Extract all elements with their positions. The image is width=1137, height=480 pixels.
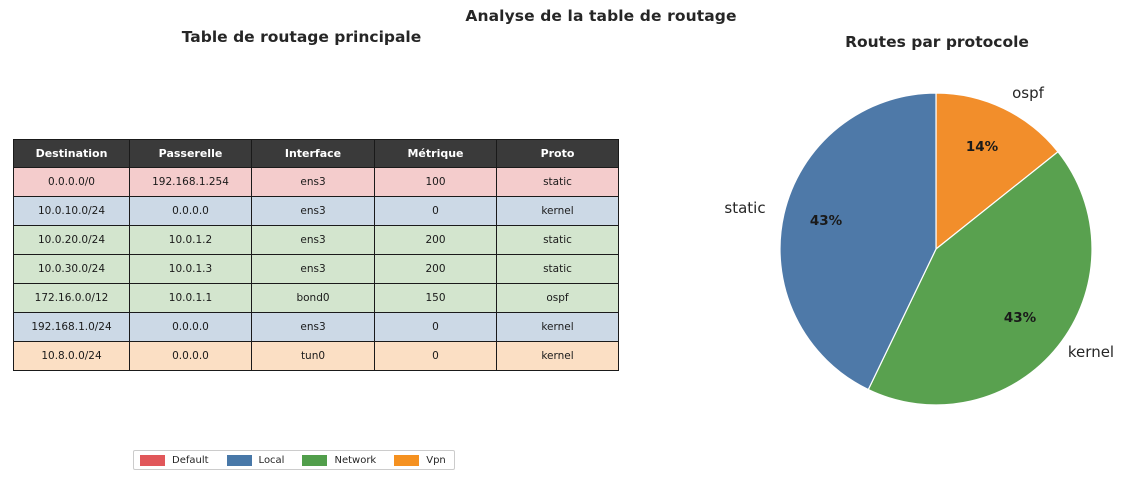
table-cell-passerelle: 10.0.1.1: [130, 284, 252, 313]
table-cell-destination: 192.168.1.0/24: [14, 313, 130, 342]
column-header-metrique: Métrique: [375, 140, 497, 168]
table-cell-metrique: 0: [375, 197, 497, 226]
table-cell-proto: kernel: [497, 342, 619, 371]
table-row: 172.16.0.0/1210.0.1.1bond0150ospf: [14, 284, 619, 313]
pie-percent-label-kernel: 43%: [1004, 310, 1037, 326]
table-cell-proto: kernel: [497, 197, 619, 226]
legend-swatch-icon: [302, 455, 327, 466]
table-cell-destination: 172.16.0.0/12: [14, 284, 130, 313]
table-cell-destination: 10.0.20.0/24: [14, 226, 130, 255]
pie-chart: 14%ospf43%kernel43%static: [700, 60, 1137, 460]
chart-legend: DefaultLocalNetworkVpn: [133, 450, 455, 470]
table-cell-passerelle: 0.0.0.0: [130, 313, 252, 342]
table-cell-passerelle: 10.0.1.3: [130, 255, 252, 284]
routing-table-title: Table de routage principale: [0, 28, 603, 46]
pie-slice-group: [780, 93, 1092, 405]
pie-slice-label-kernel: kernel: [1068, 343, 1114, 361]
table-cell-metrique: 0: [375, 313, 497, 342]
legend-label: Vpn: [426, 455, 446, 466]
legend-label: Local: [259, 455, 285, 466]
legend-swatch-icon: [140, 455, 165, 466]
column-header-passerelle: Passerelle: [130, 140, 252, 168]
legend-label: Default: [172, 455, 209, 466]
pie-percent-label-ospf: 14%: [966, 139, 999, 155]
table-cell-interface: ens3: [252, 226, 375, 255]
table-cell-passerelle: 10.0.1.2: [130, 226, 252, 255]
table-cell-proto: static: [497, 168, 619, 197]
table-row: 0.0.0.0/0192.168.1.254ens3100static: [14, 168, 619, 197]
legend-label: Network: [334, 455, 376, 466]
pie-chart-svg: 14%ospf43%kernel43%static: [700, 60, 1137, 460]
table-cell-interface: ens3: [252, 197, 375, 226]
pie-chart-title: Routes par protocole: [737, 33, 1137, 51]
pie-percent-label-static: 43%: [810, 213, 843, 229]
figure-main-title: Analyse de la table de routage: [0, 7, 1137, 25]
table-cell-metrique: 200: [375, 226, 497, 255]
legend-item[interactable]: Local: [227, 455, 285, 466]
table-cell-interface: ens3: [252, 255, 375, 284]
column-header-proto: Proto: [497, 140, 619, 168]
routing-table-header: Destination Passerelle Interface Métriqu…: [14, 140, 619, 168]
pie-slice-label-static: static: [724, 199, 765, 217]
table-cell-destination: 10.0.10.0/24: [14, 197, 130, 226]
table-cell-interface: bond0: [252, 284, 375, 313]
routing-table-body: 0.0.0.0/0192.168.1.254ens3100static10.0.…: [14, 168, 619, 371]
table-cell-proto: static: [497, 226, 619, 255]
table-row: 10.8.0.0/240.0.0.0tun00kernel: [14, 342, 619, 371]
table-cell-metrique: 100: [375, 168, 497, 197]
legend-item[interactable]: Vpn: [394, 455, 446, 466]
column-header-destination: Destination: [14, 140, 130, 168]
table-cell-interface: ens3: [252, 168, 375, 197]
routing-table: Destination Passerelle Interface Métriqu…: [13, 139, 619, 371]
table-row: 10.0.30.0/2410.0.1.3ens3200static: [14, 255, 619, 284]
legend-item[interactable]: Network: [302, 455, 376, 466]
table-cell-interface: tun0: [252, 342, 375, 371]
table-cell-proto: static: [497, 255, 619, 284]
column-header-interface: Interface: [252, 140, 375, 168]
table-cell-metrique: 150: [375, 284, 497, 313]
pie-slice-label-ospf: ospf: [1012, 84, 1045, 102]
legend-swatch-icon: [394, 455, 419, 466]
legend-item[interactable]: Default: [140, 455, 209, 466]
table-cell-destination: 0.0.0.0/0: [14, 168, 130, 197]
table-row: 192.168.1.0/240.0.0.0ens30kernel: [14, 313, 619, 342]
table-cell-passerelle: 0.0.0.0: [130, 197, 252, 226]
table-cell-metrique: 200: [375, 255, 497, 284]
table-cell-interface: ens3: [252, 313, 375, 342]
table-header-row: Destination Passerelle Interface Métriqu…: [14, 140, 619, 168]
table-cell-destination: 10.0.30.0/24: [14, 255, 130, 284]
table-cell-destination: 10.8.0.0/24: [14, 342, 130, 371]
table-row: 10.0.20.0/2410.0.1.2ens3200static: [14, 226, 619, 255]
table-cell-proto: kernel: [497, 313, 619, 342]
table-cell-proto: ospf: [497, 284, 619, 313]
table-row: 10.0.10.0/240.0.0.0ens30kernel: [14, 197, 619, 226]
table-cell-passerelle: 0.0.0.0: [130, 342, 252, 371]
table-cell-passerelle: 192.168.1.254: [130, 168, 252, 197]
legend-swatch-icon: [227, 455, 252, 466]
table-cell-metrique: 0: [375, 342, 497, 371]
